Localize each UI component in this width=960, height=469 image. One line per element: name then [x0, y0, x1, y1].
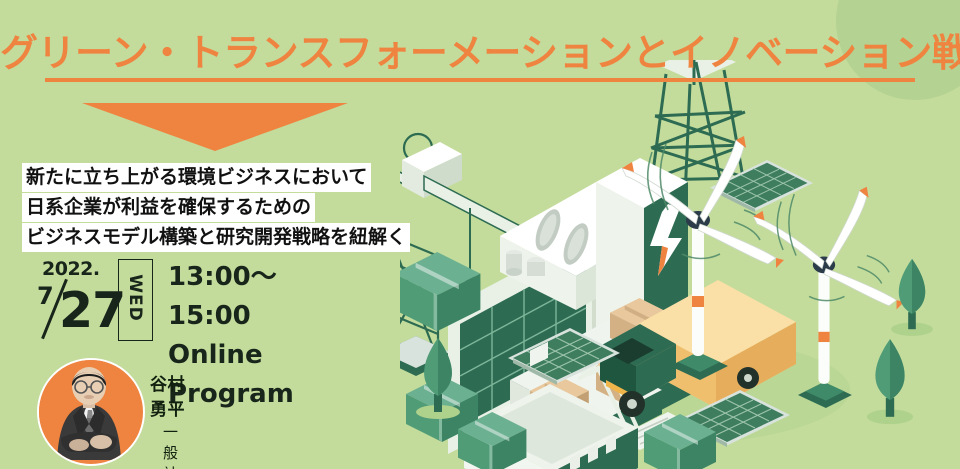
day-of-week-label: WED — [125, 258, 145, 338]
subtitle-line-2: 日系企業が利益を確保するための — [22, 193, 315, 222]
title-underline — [45, 78, 915, 82]
event-date: 2022. 7 27 — [33, 258, 125, 340]
speaker-organization: 一般社団法人 新技術応用推進基盤 — [150, 422, 185, 469]
event-day: 27 — [59, 286, 125, 336]
event-time: 13:00〜15:00 — [168, 258, 294, 336]
speaker-details: 谷村 勇平 一般社団法人 新技術応用推進基盤 代表理事 — [150, 370, 185, 469]
event-year: 2022. — [42, 258, 100, 280]
subtitle-line-1: 新たに立ち上がる環境ビジネスにおいて — [22, 163, 371, 192]
day-of-week-box: WED — [118, 259, 153, 341]
speaker-avatar — [37, 358, 145, 466]
event-month: 7 — [37, 282, 54, 310]
poster-title: グリーン・トランスフォーメーションとイノベーション戦略 — [0, 22, 960, 77]
speaker-name: 谷村 勇平 — [150, 370, 185, 420]
down-arrow-decoration — [82, 103, 348, 151]
subtitle-line-3: ビジネスモデル構築と研究開発戦略を紐解く — [22, 223, 410, 252]
subtitle-block: 新たに立ち上がる環境ビジネスにおいて 日系企業が利益を確保するための ビジネスモ… — [22, 163, 410, 253]
event-poster: グリーン・トランスフォーメーションとイノベーション戦略 新たに立ち上がる環境ビジ… — [0, 0, 960, 469]
isometric-illustration — [400, 60, 960, 469]
